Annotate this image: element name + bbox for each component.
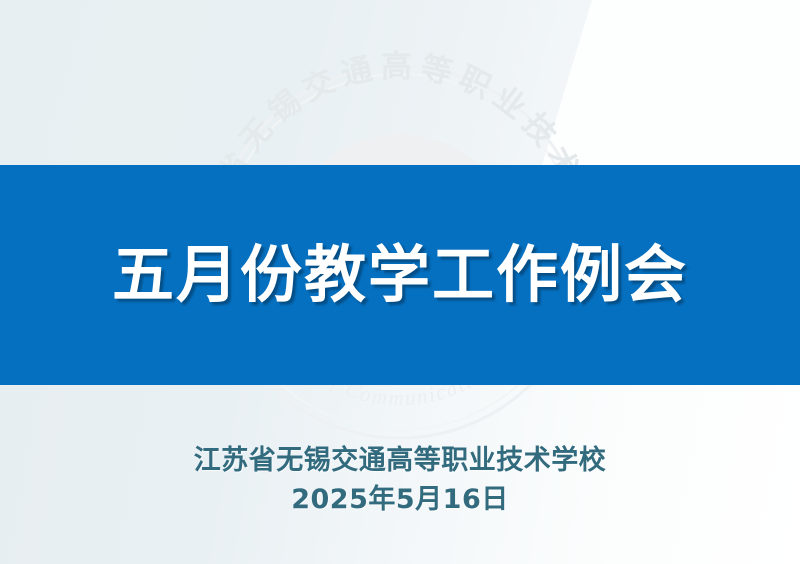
title-slide: 江苏省无锡交通高等职业技术学院 Wuxi Institute of Commun… <box>0 0 800 564</box>
slide-title: 五月份教学工作例会 <box>0 165 800 385</box>
title-banner: 五月份教学工作例会 <box>0 165 800 385</box>
presentation-date: 2025年5月16日 <box>0 484 800 517</box>
organization-name: 江苏省无锡交通高等职业技术学校 <box>0 445 800 478</box>
footer-block: 江苏省无锡交通高等职业技术学校 2025年5月16日 <box>0 445 800 517</box>
